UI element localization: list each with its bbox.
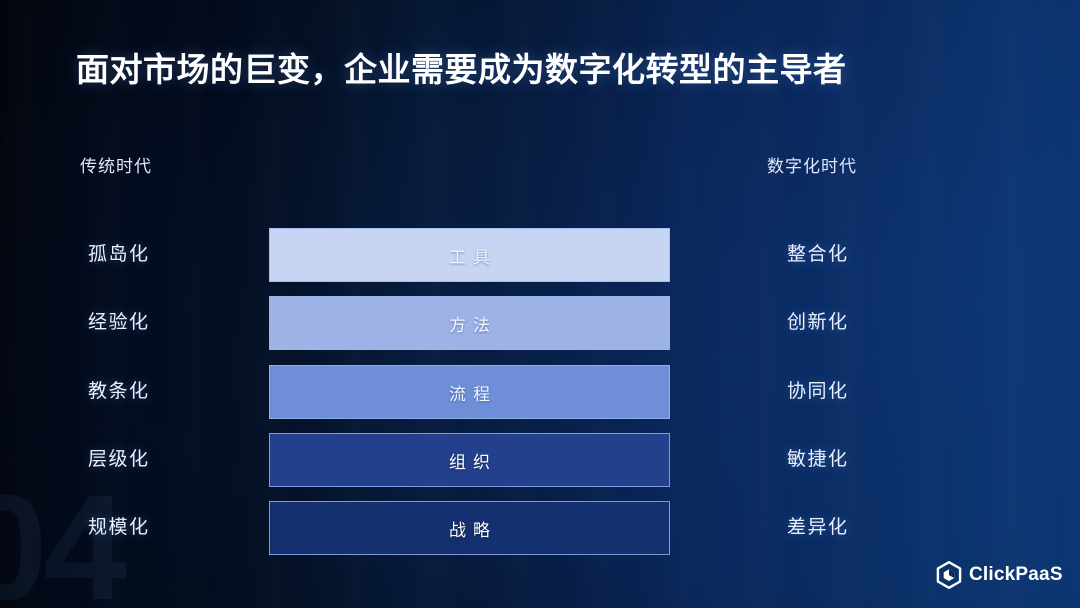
traditional-era-label: 规模化 [88,501,150,555]
traditional-era-label: 层级化 [88,433,150,487]
comparison-row: 孤岛化工具整合化 [0,228,1080,282]
transformation-layer-label: 方法 [442,311,497,336]
digital-era-label: 创新化 [787,296,849,350]
transformation-layer-bar[interactable]: 工具 [269,228,670,282]
digital-era-label: 差异化 [787,501,849,555]
transformation-layer-bar[interactable]: 组织 [269,433,670,487]
digital-era-label: 协同化 [787,365,849,419]
digital-era-label: 敏捷化 [787,433,849,487]
transformation-layer-label: 流程 [442,380,497,405]
hexagon-cube-icon [936,561,962,589]
traditional-era-label: 教条化 [88,365,150,419]
slide-canvas: 04 面对市场的巨变，企业需要成为数字化转型的主导者 传统时代 数字化时代 孤岛… [0,0,1080,608]
transformation-layer-bar[interactable]: 流程 [269,365,670,419]
transformation-layer-label: 组织 [442,448,497,473]
traditional-era-label: 孤岛化 [88,228,150,282]
comparison-row: 教条化流程协同化 [0,365,1080,419]
comparison-row: 层级化组织敏捷化 [0,433,1080,487]
brand-logo: ClickPaaS [936,561,1063,589]
comparison-row: 经验化方法创新化 [0,296,1080,350]
digital-era-label: 整合化 [787,228,849,282]
traditional-era-label: 经验化 [88,296,150,350]
transformation-layer-label: 战略 [442,516,497,541]
transformation-layer-bar[interactable]: 方法 [269,296,670,350]
transformation-layer-bar[interactable]: 战略 [269,501,670,555]
comparison-rows: 孤岛化工具整合化经验化方法创新化教条化流程协同化层级化组织敏捷化规模化战略差异化 [0,0,1080,608]
brand-name: ClickPaaS [969,564,1063,586]
comparison-row: 规模化战略差异化 [0,501,1080,555]
transformation-layer-label: 工具 [442,243,497,268]
